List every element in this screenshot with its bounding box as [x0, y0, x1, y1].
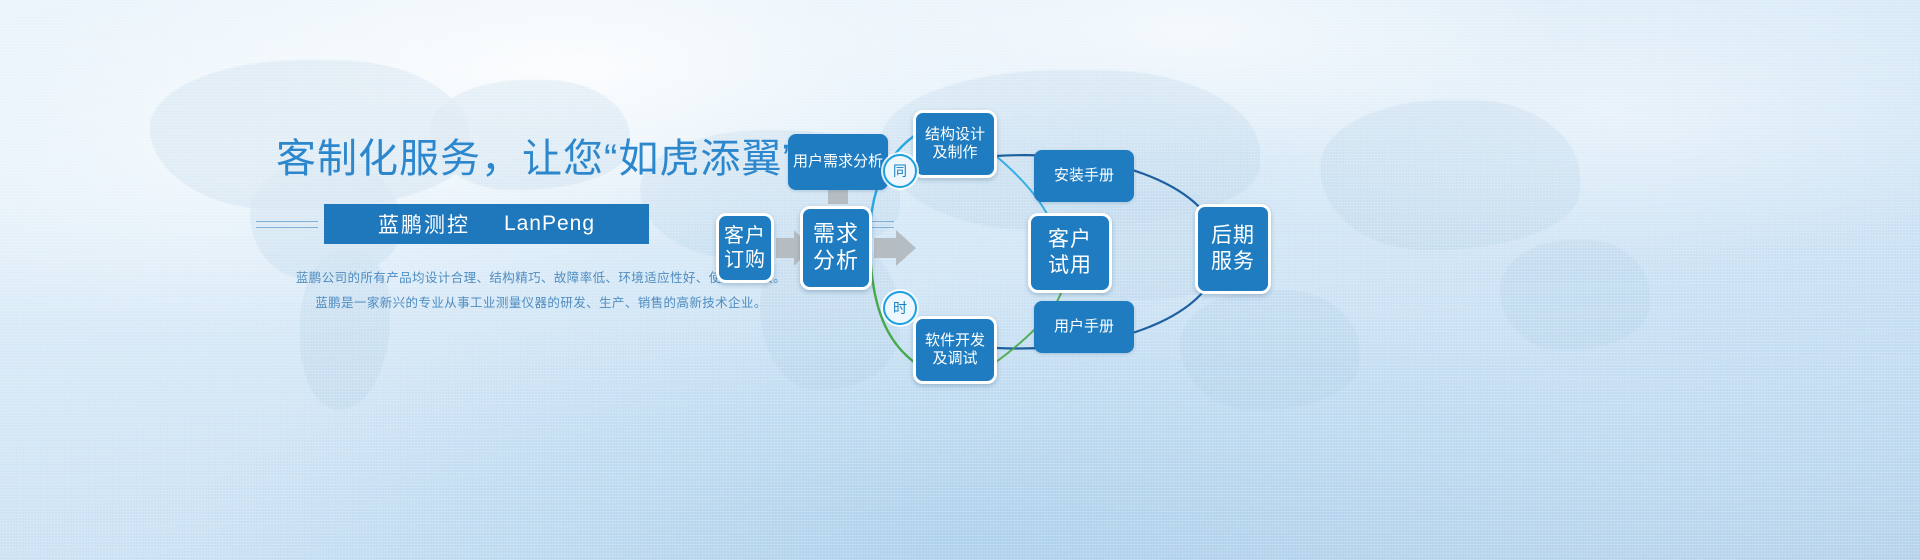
- badge-shi-icon: 时: [883, 291, 917, 325]
- node-label: 软件开发 及调试: [925, 332, 985, 369]
- node-user-requirement-analysis[interactable]: 用户需求分析: [788, 134, 888, 190]
- service-flow-diagram: 用户需求分析 客户 订购 需求 分析 结构设计 及制作 软件开发 及调试 安装手…: [700, 86, 1920, 416]
- node-label: 用户需求分析: [793, 153, 883, 171]
- node-label: 客户 订购: [724, 224, 766, 273]
- node-after-service[interactable]: 后期 服务: [1195, 204, 1271, 294]
- node-label: 需求 分析: [813, 221, 859, 275]
- brand-rule-left: [256, 221, 318, 228]
- badge-label: 时: [893, 298, 907, 318]
- badge-tong-icon: 同: [883, 154, 917, 188]
- node-user-manual[interactable]: 用户手册: [1034, 301, 1134, 353]
- node-label: 用户手册: [1054, 318, 1114, 336]
- node-requirement-analysis[interactable]: 需求 分析: [800, 206, 872, 290]
- node-label: 结构设计 及制作: [925, 126, 985, 163]
- customized-service-banner: 客制化服务，让您“如虎添翼” 蓝鹏测控 LanPeng 蓝鹏公司的所有产品均设计…: [0, 0, 1920, 560]
- node-customer-trial[interactable]: 客户 试用: [1028, 213, 1112, 293]
- arrow-analysis-to-cycle: [874, 230, 916, 266]
- badge-label: 同: [893, 161, 907, 181]
- node-label: 安装手册: [1054, 167, 1114, 185]
- node-software-development[interactable]: 软件开发 及调试: [913, 316, 997, 384]
- node-label: 客户 试用: [1048, 227, 1092, 278]
- node-customer-order[interactable]: 客户 订购: [716, 213, 774, 283]
- brand-name-en: LanPeng: [504, 212, 595, 236]
- node-label: 后期 服务: [1211, 223, 1255, 274]
- node-structure-design[interactable]: 结构设计 及制作: [913, 110, 997, 178]
- brand-name-cn: 蓝鹏测控: [378, 209, 470, 239]
- brand-bar: 蓝鹏测控 LanPeng: [324, 204, 649, 244]
- node-installation-manual[interactable]: 安装手册: [1034, 150, 1134, 202]
